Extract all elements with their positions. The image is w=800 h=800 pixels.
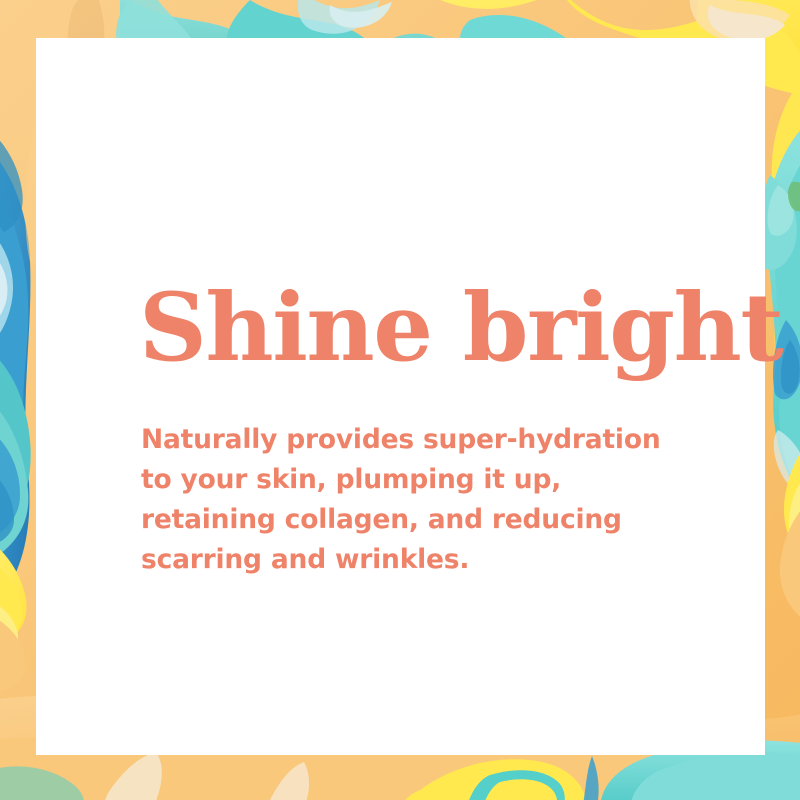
poster-canvas: Shine bright Naturally provides super-hy… <box>0 0 800 800</box>
white-content-card: Shine bright Naturally provides super-hy… <box>36 38 765 755</box>
body-line-4: scarring and wrinkles. <box>141 540 711 580</box>
page-title: Shine bright <box>139 281 782 375</box>
body-copy: Naturally provides super-hydration to yo… <box>141 420 711 580</box>
body-line-2: to your skin, plumping it up, <box>141 460 711 500</box>
body-line-3: retaining collagen, and reducing <box>141 500 711 540</box>
body-line-1: Naturally provides super-hydration <box>141 420 711 460</box>
